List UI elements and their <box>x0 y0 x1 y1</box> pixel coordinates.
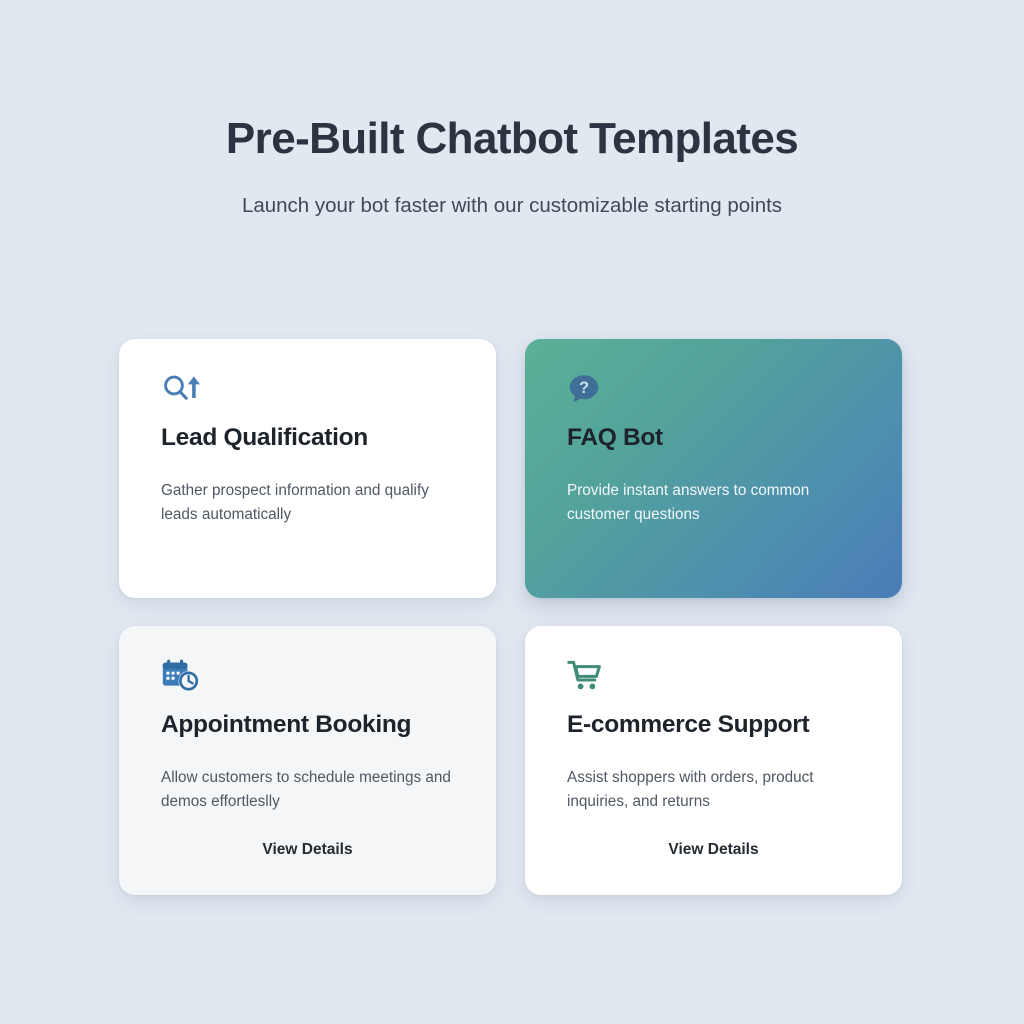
card-description: Provide instant answers to common custom… <box>567 453 860 526</box>
template-card-faq-bot[interactable]: ? FAQ Bot Provide instant answers to com… <box>525 339 902 598</box>
template-card-appointment-booking[interactable]: Appointment Booking Allow customers to s… <box>119 626 496 895</box>
card-title: FAQ Bot <box>567 423 860 453</box>
card-description: Assist shoppers with orders, product inq… <box>567 740 860 813</box>
question-speech-bubble-icon: ? <box>567 369 860 409</box>
search-trending-up-icon <box>161 369 454 409</box>
page-subtitle: Launch your bot faster with our customiz… <box>0 166 1024 220</box>
view-details-link[interactable]: View Details <box>525 841 902 859</box>
calendar-clock-icon <box>161 656 454 696</box>
templates-page: Pre-Built Chatbot Templates Launch your … <box>0 0 1024 1024</box>
template-card-grid: Lead Qualification Gather prospect infor… <box>119 339 906 895</box>
card-title: Lead Qualification <box>161 423 454 453</box>
svg-text:?: ? <box>579 379 589 397</box>
template-card-lead-qualification[interactable]: Lead Qualification Gather prospect infor… <box>119 339 496 598</box>
card-title: E-commerce Support <box>567 710 860 740</box>
page-header: Pre-Built Chatbot Templates Launch your … <box>0 0 1024 220</box>
card-description: Gather prospect information and qualify … <box>161 453 454 526</box>
view-details-link[interactable]: View Details <box>119 841 496 859</box>
page-title: Pre-Built Chatbot Templates <box>0 112 1024 166</box>
shopping-cart-icon <box>567 656 860 696</box>
template-card-ecommerce-support[interactable]: E-commerce Support Assist shoppers with … <box>525 626 902 895</box>
card-title: Appointment Booking <box>161 710 454 740</box>
card-description: Allow customers to schedule meetings and… <box>161 740 454 813</box>
